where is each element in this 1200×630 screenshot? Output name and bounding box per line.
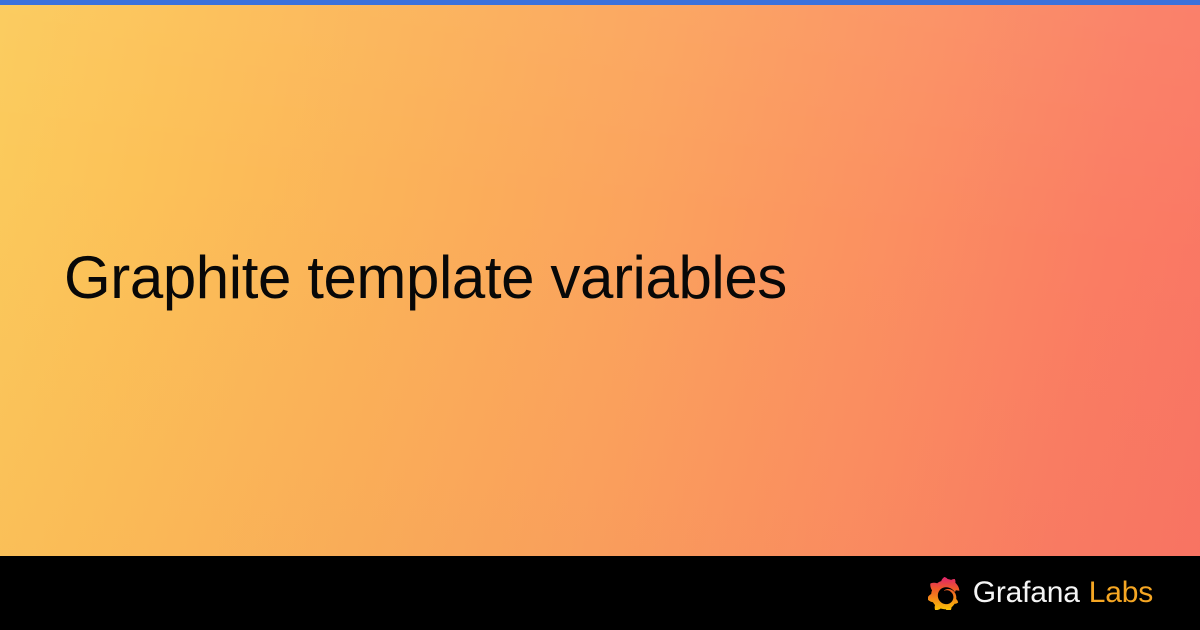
footer-bar: GrafanaLabs	[0, 556, 1200, 630]
title-container: Graphite template variables	[64, 0, 1136, 556]
brand-name-grafana: Grafana	[973, 576, 1080, 609]
brand-wordmark: GrafanaLabs	[973, 576, 1153, 610]
social-share-card: Graphite template variables GrafanaLabs	[0, 0, 1200, 630]
grafana-labs-logo: GrafanaLabs	[928, 576, 1153, 610]
grafana-flame-icon	[928, 577, 960, 610]
top-accent-bar	[0, 0, 1200, 5]
brand-name-labs: Labs	[1089, 576, 1153, 609]
page-title: Graphite template variables	[64, 243, 787, 314]
